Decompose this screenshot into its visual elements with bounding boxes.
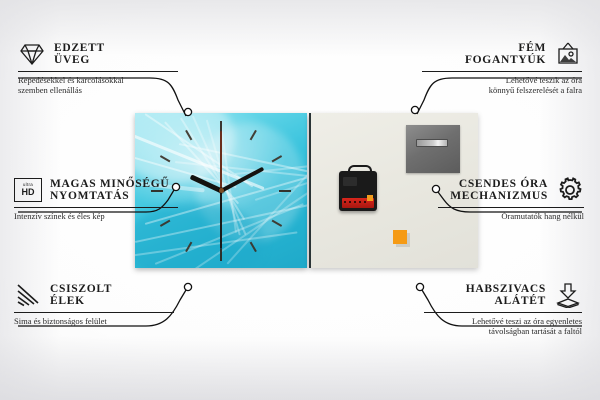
feature-tempered-glass[interactable]: EDZETT ÜVEG Repedésekkel és karcolásokka… — [18, 40, 178, 95]
mechanism-notch — [343, 177, 357, 186]
diagonal-lines-icon — [14, 281, 42, 309]
feature-title-line1: MAGAS MINŐSÉGŰ — [50, 178, 169, 190]
clock-second-hand — [220, 191, 222, 249]
feature-title-line2: FOGANTYÚK — [465, 54, 546, 66]
mechanism-bail — [348, 165, 372, 177]
ultra-hd-big-text: HD — [22, 188, 35, 197]
feature-title-line1: CSISZOLT — [50, 283, 112, 295]
feature-title-line2: MECHANIZMUS — [450, 190, 548, 202]
feature-title-line1: CSENDES ÓRA — [459, 178, 548, 190]
metal-hanger-plate — [406, 125, 460, 173]
foam-pad — [393, 230, 407, 244]
divider — [18, 71, 178, 72]
feature-title-line1: HABSZIVACS — [466, 283, 546, 295]
divider — [422, 71, 582, 72]
feature-desc-line1: Lehetővé teszi az óra egyenletes — [472, 316, 582, 326]
feature-title-line2: ÉLEK — [50, 295, 85, 307]
feature-quiet-mechanism[interactable]: CSENDES ÓRA MECHANIZMUS Óramutatók hang … — [438, 176, 584, 221]
press-down-icon — [554, 281, 582, 309]
feature-title-line2: ALÁTÉT — [495, 295, 547, 307]
feature-desc-line2: távolságban tartását a faltól — [489, 326, 582, 336]
feature-metal-handles[interactable]: FÉM FOGANTYÚK Lehetővé teszik az óra kön… — [422, 40, 582, 95]
feature-foam-backing[interactable]: HABSZIVACS ALÁTÉT Lehetővé teszi az óra … — [424, 281, 582, 336]
clock-tick — [221, 190, 291, 192]
divider — [424, 312, 582, 313]
divider — [14, 207, 178, 208]
feature-polished-edges[interactable]: CSISZOLT ÉLEK Sima és biztonságos felüle… — [14, 281, 174, 326]
feature-title-line2: ÜVEG — [54, 54, 90, 66]
clock-second-hand-top — [220, 131, 222, 191]
clock-center-pin — [219, 188, 224, 193]
feature-desc-line1: Intenzív színek és éles kép — [14, 211, 105, 221]
feature-title-line1: FÉM — [518, 42, 546, 54]
gear-icon — [556, 176, 584, 204]
ultra-hd-icon: ultra HD — [14, 176, 42, 204]
feature-title-line1: EDZETT — [54, 42, 105, 54]
feature-title-line2: NYOMTATÁS — [50, 190, 129, 202]
feature-desc-line2: könnyű felszerelését a falra — [489, 85, 582, 95]
feature-desc-line1: Sima és biztonságos felület — [14, 316, 107, 326]
divider — [438, 207, 584, 208]
divider — [14, 312, 174, 313]
feature-high-quality-print[interactable]: ultra HD MAGAS MINŐSÉGŰ NYOMTATÁS Intenz… — [14, 176, 178, 221]
diamond-icon — [18, 40, 46, 68]
feature-desc-line2: szemben ellenállás — [18, 85, 82, 95]
feature-desc-line1: Lehetővé teszik az óra — [506, 75, 582, 85]
feature-desc-line1: Óramutatók hang nélkül — [501, 211, 584, 221]
infographic-canvas: EDZETT ÜVEG Repedésekkel és karcolásokka… — [0, 0, 600, 400]
feature-desc-line1: Repedésekkel és karcolásokkal — [18, 75, 124, 85]
battery — [342, 198, 374, 208]
picture-frame-icon — [554, 40, 582, 68]
product-image — [135, 113, 476, 268]
clock-mechanism — [339, 171, 377, 211]
